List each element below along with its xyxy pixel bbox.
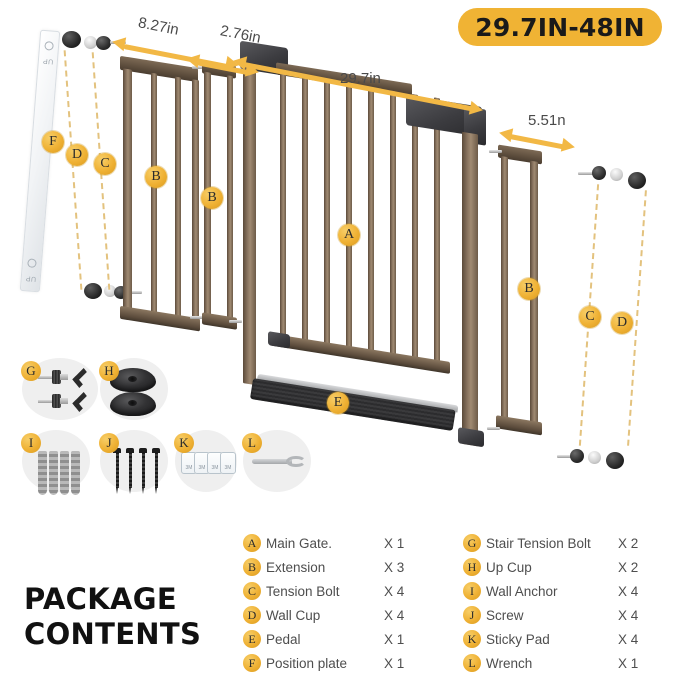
contents-name-i: Wall Anchor	[486, 584, 618, 599]
screw-1-icon	[114, 448, 120, 494]
main-gate-bar-5	[368, 87, 374, 358]
wall-cup-right-top	[628, 172, 646, 189]
thumb-badge-h: H	[99, 361, 119, 381]
contents-badge-a: A	[243, 534, 261, 552]
screw-2-body	[129, 452, 132, 488]
main-gate-bar-4	[346, 83, 352, 354]
contents-item-l: L Wrench X 1	[463, 651, 679, 675]
stair-tension-bolt-2-icon	[38, 394, 72, 409]
main-gate-right-stile	[462, 132, 478, 447]
dimension-label-2-76in: 2.76in	[219, 22, 262, 46]
contents-qty-j: X 4	[618, 608, 656, 623]
contents-qty-a: X 1	[384, 536, 422, 551]
contents-name-h: Up Cup	[486, 560, 618, 575]
contents-badge-b: B	[243, 558, 261, 576]
position-plate-up-top-label: UP	[42, 57, 53, 65]
thumb-badge-l: L	[242, 433, 262, 453]
contents-name-g: Stair Tension Bolt	[486, 536, 618, 551]
screw-3-body	[142, 452, 145, 488]
page-title-line-1: PACKAGE	[24, 582, 201, 617]
contents-badge-h: H	[463, 558, 481, 576]
screw-4-icon	[153, 448, 159, 494]
dimension-arrowhead-left-2-76in	[185, 52, 200, 68]
contents-list-left: A Main Gate. X 1 B Extension X 3 C Tensi…	[243, 531, 453, 675]
page-title: PACKAGE CONTENTS	[24, 582, 201, 653]
contents-qty-h: X 2	[618, 560, 656, 575]
contents-qty-l: X 1	[618, 656, 656, 671]
wall-anchor-2-icon	[49, 451, 58, 495]
dimension-arrowhead-right-5-51in	[561, 138, 576, 154]
contents-name-j: Screw	[486, 608, 618, 623]
dimension-arrowhead-left-5-51in	[498, 126, 513, 142]
callout-badge-c-right: C	[579, 306, 601, 328]
contents-name-a: Main Gate.	[266, 536, 384, 551]
contents-name-c: Tension Bolt	[266, 584, 384, 599]
contents-badge-e: E	[243, 630, 261, 648]
tension-bolt-right-bottom-knob	[570, 449, 584, 463]
sticky-pad-4-icon: 3M	[220, 452, 236, 474]
screw-2-point	[129, 487, 131, 494]
wall-anchor-3-icon	[60, 451, 69, 495]
tension-bolt-left-top-knob	[96, 36, 111, 50]
extension-left-wide-bar-4	[192, 79, 199, 325]
contents-item-c: C Tension Bolt X 4	[243, 579, 453, 603]
callout-badge-c-left: C	[94, 153, 116, 175]
size-range-badge: 29.7IN-48IN	[458, 8, 662, 46]
contents-badge-j: J	[463, 606, 481, 624]
contents-qty-k: X 4	[618, 632, 656, 647]
callout-badge-b-left-wide: B	[145, 166, 167, 188]
thumb-badge-g: G	[21, 361, 41, 381]
extension-right-bar-1	[501, 156, 508, 419]
contents-item-g: G Stair Tension Bolt X 2	[463, 531, 679, 555]
thumb-badge-i: I	[21, 433, 41, 453]
callout-badge-b-right: B	[518, 278, 540, 300]
position-plate-up-bottom-label: UP	[25, 274, 36, 282]
extension-left-narrow-bar-2	[227, 75, 233, 319]
wall-cup-left-top	[62, 31, 81, 48]
tension-bolt-right-top-knob	[592, 166, 606, 180]
contents-name-b: Extension	[266, 560, 384, 575]
contents-badge-g: G	[463, 534, 481, 552]
callout-badge-d-left: D	[66, 144, 88, 166]
screw-3-point	[142, 487, 144, 494]
contents-qty-i: X 4	[618, 584, 656, 599]
dimension-label-5-51in: 5.51n	[528, 112, 566, 129]
contents-item-e: E Pedal X 1	[243, 627, 453, 651]
extension-left-wide-bottom-rail	[120, 306, 200, 332]
callout-badge-b-left-narrow: B	[201, 187, 223, 209]
guide-line-wall-cup-left	[64, 50, 83, 290]
main-gate-bar-7	[412, 94, 418, 365]
contents-qty-c: X 4	[384, 584, 422, 599]
extension-right-top-pin	[489, 150, 502, 153]
contents-item-b: B Extension X 3	[243, 555, 453, 579]
contents-item-i: I Wall Anchor X 4	[463, 579, 679, 603]
callout-badge-d-right: D	[611, 312, 633, 334]
contents-badge-f: F	[243, 654, 261, 672]
wrench-head	[286, 456, 306, 467]
screw-1-point	[116, 487, 118, 494]
contents-name-k: Sticky Pad	[486, 632, 618, 647]
main-gate-door-bottom-rail	[270, 333, 450, 374]
contents-item-h: H Up Cup X 2	[463, 555, 679, 579]
contents-qty-f: X 1	[384, 656, 422, 671]
contents-qty-g: X 2	[618, 536, 656, 551]
wall-anchor-1-icon	[38, 451, 47, 495]
main-gate-left-stile	[243, 65, 256, 385]
screw-1-body	[116, 452, 119, 488]
contents-qty-b: X 3	[384, 560, 422, 575]
wrench-icon	[252, 456, 306, 467]
main-gate-bar-3	[324, 80, 330, 351]
contents-qty-d: X 4	[384, 608, 422, 623]
contents-badge-d: D	[243, 606, 261, 624]
screw-2-icon	[127, 448, 133, 494]
wall-cup-right-bottom	[606, 452, 624, 469]
screw-3-icon	[140, 448, 146, 494]
contents-item-j: J Screw X 4	[463, 603, 679, 627]
extension-left-wide-bar-2	[151, 73, 157, 319]
contents-name-e: Pedal	[266, 632, 384, 647]
stair-bolt-tip-2	[60, 398, 68, 404]
up-cup-2-icon	[110, 392, 156, 416]
thumb-badge-j: J	[99, 433, 119, 453]
contents-badge-k: K	[463, 630, 481, 648]
dimension-arrowhead-left-29-7in	[232, 54, 247, 70]
dimension-arrowhead-left-8-27in	[111, 35, 126, 51]
main-gate-bar-2	[302, 76, 308, 347]
contents-badge-c: C	[243, 582, 261, 600]
contents-badge-i: I	[463, 582, 481, 600]
wall-anchor-4-icon	[71, 451, 80, 495]
contents-badge-l: L	[463, 654, 481, 672]
tension-bolt-right-top-washer	[610, 168, 623, 181]
tension-bolt-right-bottom-washer	[588, 451, 601, 464]
contents-item-k: K Sticky Pad X 4	[463, 627, 679, 651]
thumb-badge-k: K	[174, 433, 194, 453]
contents-qty-e: X 1	[384, 632, 422, 647]
stair-bolt-tip-1	[60, 374, 68, 380]
main-gate-bar-8	[434, 97, 440, 368]
screw-4-body	[155, 452, 158, 488]
contents-name-f: Position plate	[266, 656, 384, 671]
contents-item-f: F Position plate X 1	[243, 651, 453, 675]
page-title-line-2: CONTENTS	[24, 617, 201, 652]
callout-badge-f: F	[42, 131, 64, 153]
main-gate-bar-6	[390, 90, 396, 361]
contents-item-d: D Wall Cup X 4	[243, 603, 453, 627]
dimension-label-8-27in: 8.27in	[137, 14, 180, 38]
extension-left-wide-bar-1	[123, 68, 132, 314]
extension-left-wide-bar-3	[175, 77, 181, 323]
position-plate-ring-top-icon	[44, 41, 54, 51]
stair-tension-bolt-1-icon	[38, 370, 72, 385]
screw-4-point	[155, 487, 157, 494]
main-gate-bar-1	[280, 73, 286, 344]
main-gate-bottom-right-fitting	[458, 427, 484, 447]
dimension-arrowhead-right-29-7in	[469, 101, 484, 117]
position-plate-ring-bottom-icon	[27, 258, 37, 268]
callout-badge-e-pedal: E	[327, 392, 349, 414]
contents-name-d: Wall Cup	[266, 608, 384, 623]
wall-cup-left-bottom	[84, 283, 102, 299]
position-plate-part: UP UP	[20, 30, 60, 293]
extension-right-bottom-pin	[487, 427, 500, 430]
callout-badge-a-main-gate: A	[338, 224, 360, 246]
dimension-label-29-7in: 29.7in	[340, 70, 381, 87]
contents-list-right: G Stair Tension Bolt X 2 H Up Cup X 2 I …	[463, 531, 679, 675]
contents-item-a: A Main Gate. X 1	[243, 531, 453, 555]
main-gate-bottom-left-fitting	[268, 331, 290, 348]
contents-name-l: Wrench	[486, 656, 618, 671]
dimension-arrowhead-right-2-76in	[245, 63, 260, 79]
